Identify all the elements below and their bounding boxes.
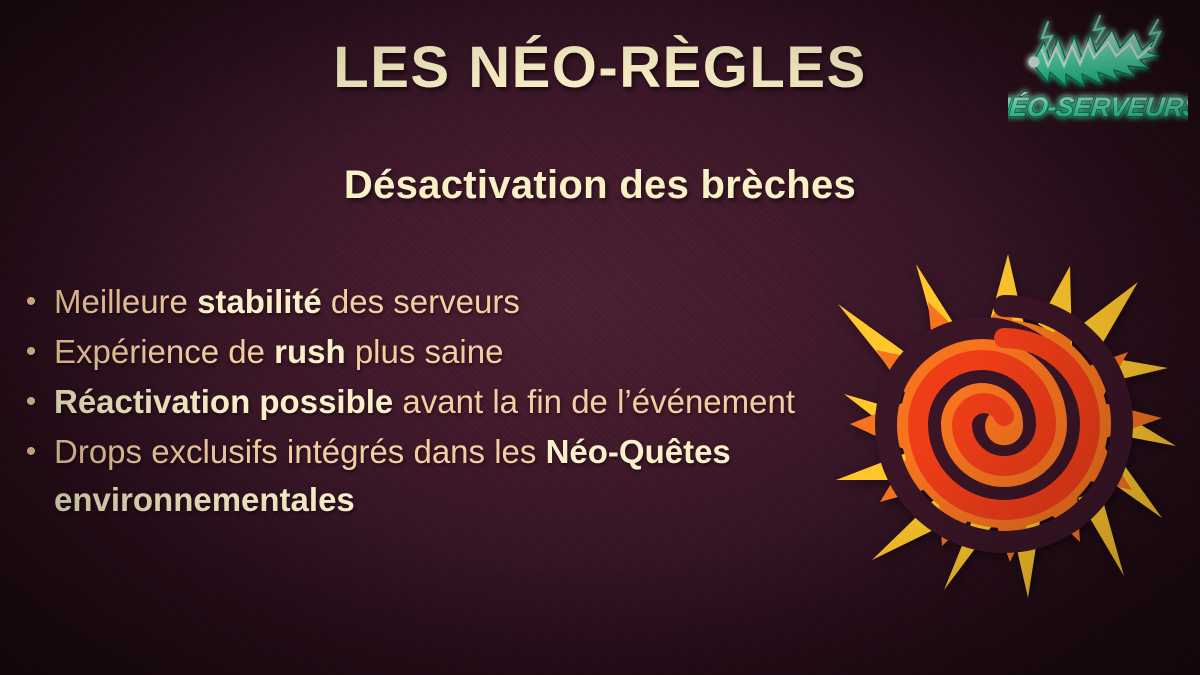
- list-item: •Expérience de rush plus saine: [8, 328, 798, 376]
- slide-subtitle: Désactivation des brèches: [0, 163, 1200, 208]
- logo-subtitle-text: NÉO-SERVEURS: [1008, 91, 1188, 122]
- list-item-text: plus saine: [346, 333, 504, 370]
- sun-spiral-icon: [832, 246, 1176, 598]
- sun-spiral-svg: [832, 246, 1176, 598]
- list-item-text: Expérience de: [54, 333, 274, 370]
- presentation-slide: LES NÉO-RÈGLES Désactivation des brèches…: [0, 0, 1200, 675]
- bullet-dot-icon: •: [8, 428, 54, 476]
- wakfu-neo-serveurs-logo[interactable]: NÉO-SERVEURS: [1008, 8, 1188, 132]
- list-item: •Drops exclusifs intégrés dans les Néo-Q…: [8, 428, 798, 524]
- list-item: •Réactivation possible avant la fin de l…: [8, 378, 798, 426]
- list-item-text: Meilleure: [54, 283, 197, 320]
- list-item: •Meilleure stabilité des serveurs: [8, 278, 798, 326]
- list-item-label: Expérience de rush plus saine: [54, 328, 798, 376]
- list-item-label: Drops exclusifs intégrés dans les Néo-Qu…: [54, 428, 798, 524]
- list-item-emphasis: Réactivation possible: [54, 383, 393, 420]
- list-item-text: avant la fin de l’événement: [393, 383, 795, 420]
- list-item-label: Meilleure stabilité des serveurs: [54, 278, 798, 326]
- bullet-list: •Meilleure stabilité des serveurs•Expéri…: [8, 278, 798, 526]
- list-item-emphasis: stabilité: [197, 283, 322, 320]
- bullet-dot-icon: •: [8, 328, 54, 376]
- wakfu-wordmark-icon: [1029, 16, 1161, 86]
- logo-svg: NÉO-SERVEURS: [1008, 8, 1188, 132]
- list-item-text: Drops exclusifs intégrés dans les: [54, 433, 546, 470]
- list-item-text: des serveurs: [322, 283, 520, 320]
- logo-subtitle-icon: NÉO-SERVEURS: [1008, 91, 1188, 122]
- bullet-dot-icon: •: [8, 378, 54, 426]
- list-item-label: Réactivation possible avant la fin de l’…: [54, 378, 798, 426]
- bullet-dot-icon: •: [8, 278, 54, 326]
- list-item-emphasis: rush: [274, 333, 346, 370]
